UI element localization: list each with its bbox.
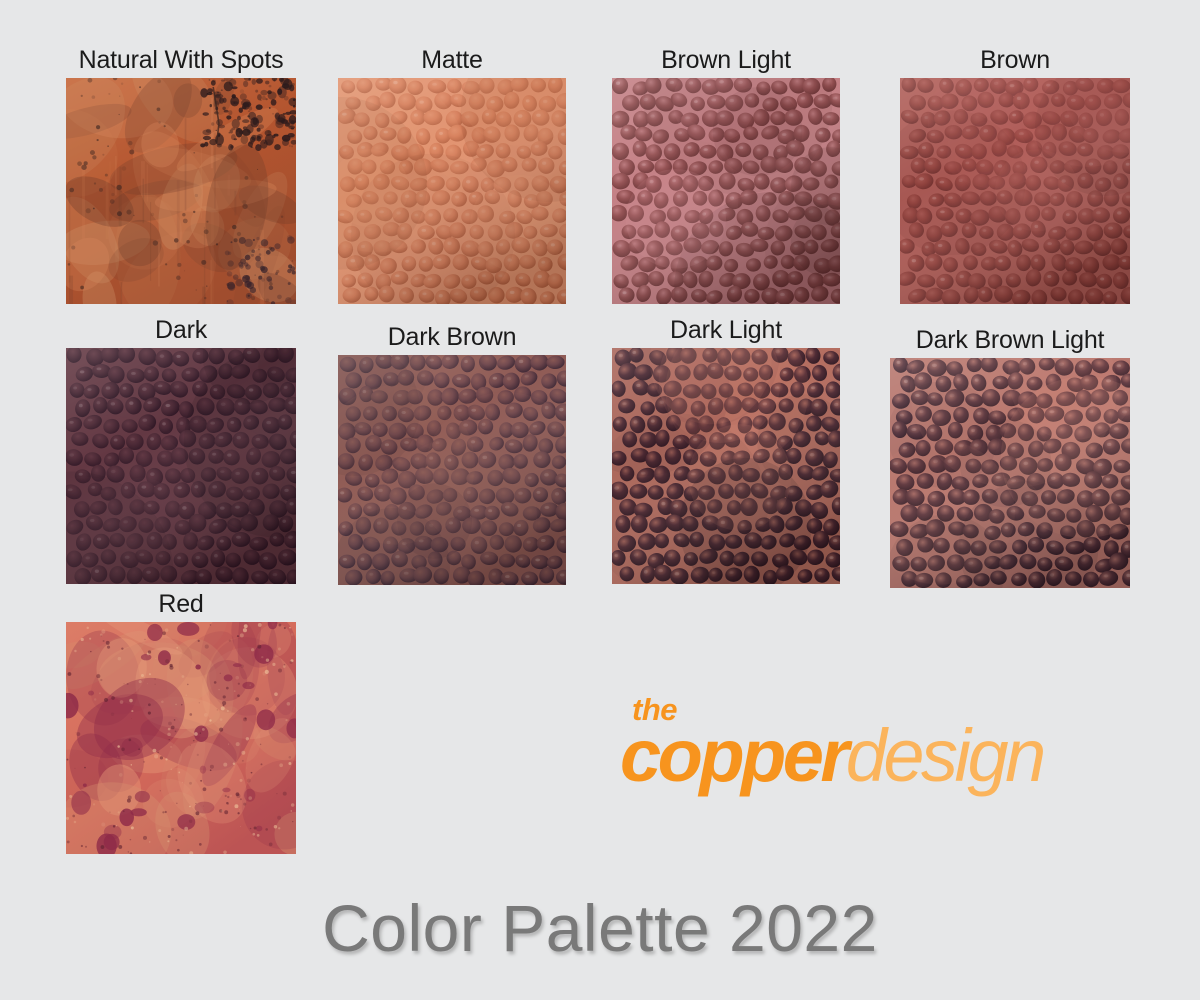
logo-design-text: design	[846, 714, 1043, 797]
logo-copper-text: copper	[620, 714, 846, 797]
swatch-texture-image[interactable]	[338, 78, 566, 304]
swatch-label: Matte	[421, 45, 483, 75]
palette-board: Natural With SpotsMatteBrown LightBrownD…	[0, 0, 1200, 1000]
swatch-label: Dark Brown Light	[916, 325, 1105, 355]
page-title: Color Palette 2022	[0, 890, 1200, 966]
brand-logo: the copperdesign	[620, 694, 1125, 794]
swatch-cell[interactable]: Dark	[66, 348, 296, 584]
swatch-texture-image[interactable]	[890, 358, 1130, 588]
swatch-cell[interactable]: Brown Light	[612, 78, 840, 304]
swatch-label: Natural With Spots	[79, 45, 284, 75]
swatch-texture-image[interactable]	[66, 78, 296, 304]
swatch-label: Dark Brown	[388, 322, 517, 352]
swatch-cell[interactable]: Red	[66, 622, 296, 854]
swatch-texture-image[interactable]	[338, 355, 566, 585]
swatch-texture-image[interactable]	[612, 78, 840, 304]
swatch-texture-image[interactable]	[66, 348, 296, 584]
swatch-cell[interactable]: Brown	[900, 78, 1130, 304]
swatch-cell[interactable]: Dark Brown	[338, 355, 566, 585]
swatch-cell[interactable]: Dark Light	[612, 348, 840, 584]
swatch-texture-image[interactable]	[612, 348, 840, 584]
swatch-label: Red	[158, 589, 203, 619]
swatch-label: Brown	[980, 45, 1050, 75]
swatch-texture-image[interactable]	[66, 622, 296, 854]
swatch-cell[interactable]: Dark Brown Light	[890, 358, 1130, 588]
swatch-label: Brown Light	[661, 45, 791, 75]
swatch-cell[interactable]: Natural With Spots	[66, 78, 296, 304]
swatch-texture-image[interactable]	[900, 78, 1130, 304]
swatch-label: Dark Light	[670, 315, 782, 345]
swatch-cell[interactable]: Matte	[338, 78, 566, 304]
swatch-label: Dark	[155, 315, 207, 345]
logo-wordmark: copperdesign	[620, 716, 1043, 796]
